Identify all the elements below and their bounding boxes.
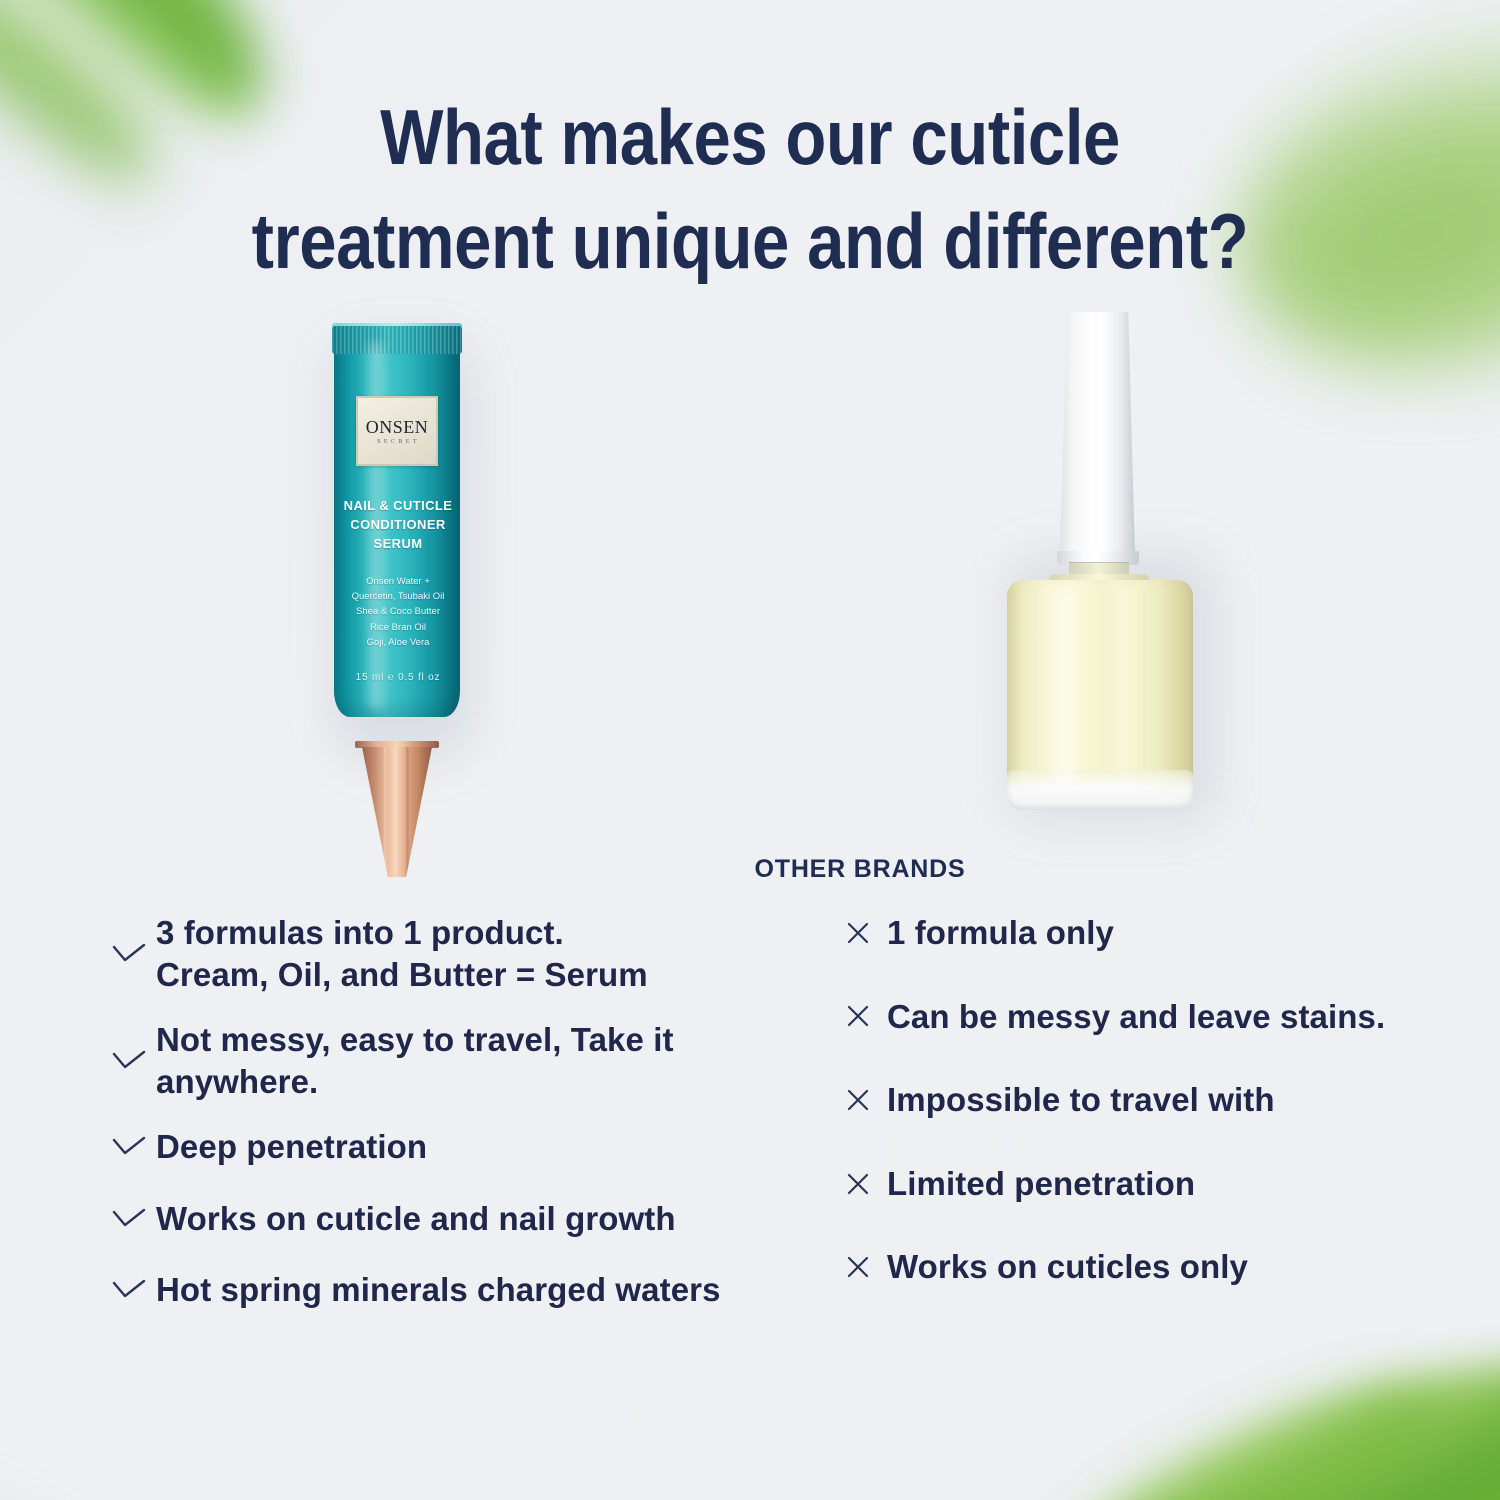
brand-name: ONSEN: [366, 418, 429, 436]
cross-icon: [845, 920, 887, 946]
pros-item-line: Cream, Oil, and Butter = Serum: [156, 954, 648, 996]
pros-list-item: Works on cuticle and nail growth: [112, 1198, 802, 1240]
other-brand-bottle-image: [1003, 308, 1218, 828]
cons-item-line: Can be messy and leave stains.: [887, 996, 1385, 1038]
pros-list-item: Not messy, easy to travel, Take it anywh…: [112, 1019, 802, 1102]
pros-item-line: anywhere.: [156, 1061, 674, 1103]
bottle-gloss-highlight: [1049, 590, 1079, 790]
pros-item-line: Not messy, easy to travel, Take it: [156, 1019, 674, 1061]
cons-item-line: 1 formula only: [887, 912, 1114, 954]
cons-list-item: 1 formula only: [845, 912, 1485, 954]
cons-item-text: Can be messy and leave stains.: [887, 996, 1385, 1038]
page-title: What makes our cuticle treatment unique …: [105, 86, 1395, 293]
pros-item-line: Deep penetration: [156, 1126, 427, 1168]
cons-item-line: Works on cuticles only: [887, 1246, 1248, 1288]
headline-line-1: What makes our cuticle: [105, 86, 1395, 190]
cons-column: 1 formula only Can be messy and leave st…: [845, 912, 1485, 1330]
pros-list-item: 3 formulas into 1 product. Cream, Oil, a…: [112, 912, 802, 995]
tube-volume-text: 15 ml ℮ 0.5 fl oz: [331, 672, 465, 683]
pros-item-line: 3 formulas into 1 product.: [156, 912, 648, 954]
pros-item-text: Not messy, easy to travel, Take it anywh…: [156, 1019, 674, 1102]
product-images: ONSEN SECRET NAIL & CUTICLE CONDITIONER …: [0, 300, 1500, 900]
onsen-serum-tube-image: ONSEN SECRET NAIL & CUTICLE CONDITIONER …: [325, 312, 473, 872]
tube-printed-copy: NAIL & CUTICLE CONDITIONER SERUM Onsen W…: [331, 497, 465, 683]
cons-item-text: Impossible to travel with: [887, 1079, 1275, 1121]
onsen-brand-label: ONSEN SECRET: [356, 396, 438, 466]
tube-ingredient-line: Onsen Water +: [331, 574, 465, 589]
tube-ingredient-line: Quercetin, Tsubaki Oil: [331, 589, 465, 604]
bottle-cap: [1060, 312, 1135, 557]
cons-list-item: Can be messy and leave stains.: [845, 996, 1485, 1038]
tube-product-name: NAIL & CUTICLE CONDITIONER SERUM: [331, 497, 465, 554]
cons-list-item: Impossible to travel with: [845, 1079, 1485, 1121]
pros-item-line: Works on cuticle and nail growth: [156, 1198, 676, 1240]
other-brands-caption: OTHER BRANDS: [0, 855, 1500, 884]
brand-subtitle: SECRET: [377, 439, 420, 445]
headline-line-2: treatment unique and different?: [105, 190, 1395, 294]
pros-item-text: 3 formulas into 1 product. Cream, Oil, a…: [156, 912, 648, 995]
tube-ingredient-line: Shea & Coco Butter: [331, 604, 465, 619]
cons-item-text: Works on cuticles only: [887, 1246, 1248, 1288]
cross-icon: [845, 1003, 887, 1029]
tube-crimp-seal: [332, 326, 462, 354]
tube-ingredient-line: Rice Bran Oil: [331, 620, 465, 635]
pros-list-item: Deep penetration: [112, 1126, 802, 1168]
cons-list-item: Limited penetration: [845, 1163, 1485, 1205]
bottle-glass-base: [1007, 770, 1193, 810]
cross-icon: [845, 1254, 887, 1280]
cons-list-item: Works on cuticles only: [845, 1246, 1485, 1288]
tube-ingredient-line: Goji, Aloe Vera: [331, 635, 465, 650]
pros-column: 3 formulas into 1 product. Cream, Oil, a…: [112, 912, 802, 1341]
tube-product-name-line-1: NAIL & CUTICLE: [331, 497, 465, 516]
check-icon: [112, 1050, 156, 1072]
pros-item-text: Deep penetration: [156, 1126, 427, 1168]
tube-copper-ring: [355, 741, 439, 748]
cons-item-line: Impossible to travel with: [887, 1079, 1275, 1121]
cons-item-line: Limited penetration: [887, 1163, 1195, 1205]
check-icon: [112, 943, 156, 965]
tube-product-name-line-2: CONDITIONER: [331, 516, 465, 535]
pros-item-text: Hot spring minerals charged waters: [156, 1269, 721, 1311]
leaf-decoration-bottom-left: [0, 1460, 169, 1500]
cross-icon: [845, 1171, 887, 1197]
tube-ingredient-list: Onsen Water + Quercetin, Tsubaki Oil She…: [331, 574, 465, 651]
check-icon: [112, 1136, 156, 1158]
pros-item-text: Works on cuticle and nail growth: [156, 1198, 676, 1240]
tube-product-name-line-3: SERUM: [331, 535, 465, 554]
other-brands-caption-text: OTHER BRANDS: [755, 855, 966, 884]
check-icon: [112, 1279, 156, 1301]
pros-list-item: Hot spring minerals charged waters: [112, 1269, 802, 1311]
infographic-canvas: What makes our cuticle treatment unique …: [0, 0, 1500, 1500]
cons-item-text: 1 formula only: [887, 912, 1114, 954]
pros-item-line: Hot spring minerals charged waters: [156, 1269, 721, 1311]
check-icon: [112, 1208, 156, 1230]
cons-item-text: Limited penetration: [887, 1163, 1195, 1205]
leaf-decoration-bottom-right-secondary: [1026, 1349, 1464, 1500]
cross-icon: [845, 1087, 887, 1113]
